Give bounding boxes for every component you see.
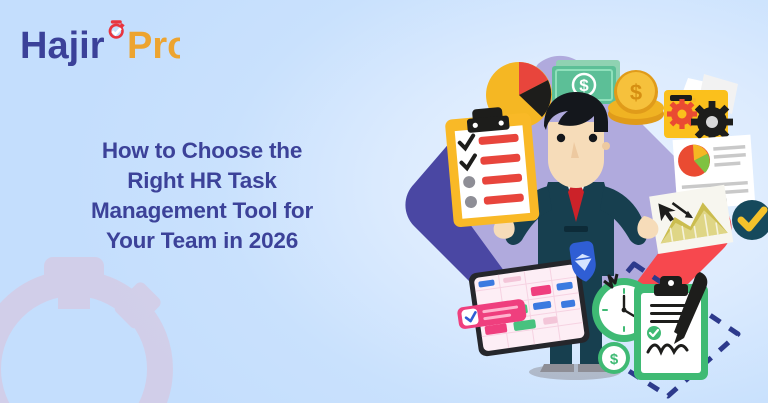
svg-text:$: $ <box>579 76 589 95</box>
page-title-line-3: Management Tool for <box>46 196 358 226</box>
stopwatch-outline-watermark <box>0 239 190 403</box>
approved-check-badge-icon <box>732 200 768 240</box>
deadline-task-group: $ <box>592 272 708 380</box>
page-title-line-2: Right HR Task <box>46 166 358 196</box>
dollar-coin-icon: $ <box>598 342 630 374</box>
brand-name-primary: Hajir <box>20 25 105 67</box>
brand-logo[interactable]: Hajir Pro Hajir Pro <box>20 22 180 68</box>
blog-hero-banner: Hajir Pro Hajir Pro How to Choose the Ri… <box>0 0 768 403</box>
eye-right <box>589 134 597 142</box>
page-title-line-1: How to Choose the <box>46 136 358 166</box>
task-checklist-clipboard <box>444 105 540 228</box>
page-title-line-4: Your Team in 2026 <box>46 226 358 256</box>
page-title: How to Choose the Right HR Task Manageme… <box>46 136 358 256</box>
stopwatch-check-icon <box>109 20 125 39</box>
document-check-stamp <box>647 326 661 340</box>
svg-text:$: $ <box>610 351 619 368</box>
brand-name-secondary: Pro <box>127 25 180 67</box>
hr-task-management-illustration: $ $ <box>386 34 768 403</box>
svg-text:$: $ <box>630 80 642 105</box>
signed-document-clipboard <box>634 272 708 380</box>
eye-left <box>557 134 565 142</box>
